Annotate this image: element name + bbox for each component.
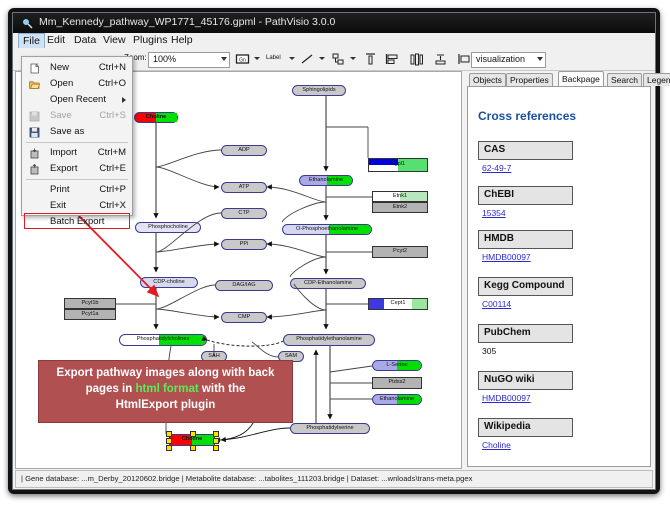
xref-value-nugo[interactable]: HMDB00097 bbox=[482, 393, 531, 403]
pathway-node-dag-iag[interactable]: DAG/IAG bbox=[215, 280, 273, 291]
backpage-content: Cross references CAS 62-49-7 ChEBI 15354… bbox=[467, 86, 651, 467]
interaction-tool-icon[interactable] bbox=[331, 52, 346, 66]
menu-edit[interactable]: Edit bbox=[43, 34, 69, 47]
side-panel: Objects Properties Backpage Search Legen… bbox=[463, 71, 653, 469]
menu-item-save[interactable]: Save Ctrl+S bbox=[22, 108, 132, 124]
save-as-icon bbox=[29, 127, 40, 138]
xref-value-chebi[interactable]: 15354 bbox=[482, 208, 506, 218]
export-icon bbox=[29, 164, 40, 175]
line-dropdown-icon[interactable] bbox=[319, 57, 325, 60]
align-top-icon[interactable] bbox=[363, 52, 378, 66]
menu-item-open-recent[interactable]: Open Recent bbox=[22, 92, 132, 108]
selection-handle[interactable] bbox=[190, 431, 196, 437]
annotation-line2-b: with the bbox=[199, 383, 246, 395]
pathway-node-ppi[interactable]: PPi bbox=[221, 239, 267, 250]
window-title: Mm_Kennedy_pathway_WP1771_45176.gpml - P… bbox=[39, 16, 335, 28]
annotation-line2-a: pages in bbox=[86, 383, 136, 395]
selection-handle[interactable] bbox=[166, 438, 172, 444]
pathway-gene-etnk1[interactable]: Etnk1 bbox=[372, 191, 428, 202]
import-icon bbox=[29, 148, 40, 159]
menu-item-exit[interactable]: Exit Ctrl+X bbox=[22, 198, 132, 214]
submenu-arrow-icon bbox=[122, 97, 126, 103]
pathway-node-phosphatidylcholines[interactable]: Phosphatidylcholines bbox=[119, 334, 207, 346]
interaction-dropdown-icon[interactable] bbox=[350, 57, 356, 60]
datanode-tool-icon[interactable]: Gn bbox=[235, 52, 250, 66]
window-frame: Mm_Kennedy_pathway_WP1771_45176.gpml - P… bbox=[8, 8, 660, 494]
pathway-node-phosphatidylethanolamine[interactable]: Phosphatidylethanolamine bbox=[283, 334, 375, 346]
pathway-node-l-serine[interactable]: L-Serine bbox=[372, 360, 422, 371]
datanode-dropdown-icon[interactable] bbox=[254, 57, 260, 60]
visualization-combo[interactable]: visualization bbox=[471, 52, 546, 68]
tab-legend[interactable]: Legend bbox=[643, 73, 670, 86]
menu-item-export[interactable]: Export Ctrl+E bbox=[22, 161, 132, 177]
visualization-value: visualization bbox=[476, 54, 525, 64]
xref-key-hmdb: HMDB bbox=[478, 230, 573, 249]
annotation-line3: HtmlExport plugin bbox=[39, 397, 292, 413]
xref-key-pubchem: PubChem bbox=[478, 324, 573, 343]
menu-help[interactable]: Help bbox=[167, 34, 197, 47]
pathway-node-choline[interactable]: Choline bbox=[134, 112, 178, 123]
pathway-node-phosphatidylserine[interactable]: Phosphatidylserine bbox=[290, 423, 370, 434]
side-panel-tabs: Objects Properties Backpage Search Legen… bbox=[463, 71, 653, 85]
menu-separator bbox=[26, 179, 128, 180]
xref-key-chebi: ChEBI bbox=[478, 186, 573, 205]
annotation-callout: Export pathway images along with back pa… bbox=[38, 360, 293, 423]
pathway-node-ctp[interactable]: CTP bbox=[221, 208, 267, 219]
pathway-node-ethanolamine-2[interactable]: Ethanolamine bbox=[372, 394, 422, 405]
menu-plugins[interactable]: Plugins bbox=[129, 34, 171, 47]
tab-search[interactable]: Search bbox=[607, 73, 642, 86]
menu-item-import[interactable]: Import Ctrl+M bbox=[22, 145, 132, 161]
pathway-gene-cept1[interactable]: Cept1 bbox=[368, 298, 428, 310]
cross-references-heading: Cross references bbox=[478, 109, 576, 123]
pathway-gene-pcyt2[interactable]: Pcyt2 bbox=[372, 246, 428, 258]
distribute-horizontal-icon[interactable] bbox=[433, 52, 448, 66]
pathway-node-ethanolamine[interactable]: Ethanolamine bbox=[299, 175, 353, 186]
menu-item-print[interactable]: Print Ctrl+P bbox=[22, 182, 132, 198]
pathway-node-sphingolipids[interactable]: Sphingolipids bbox=[292, 85, 346, 96]
selection-handle[interactable] bbox=[213, 438, 219, 444]
svg-text:Gn: Gn bbox=[239, 57, 246, 63]
window-inner: Mm_Kennedy_pathway_WP1771_45176.gpml - P… bbox=[12, 12, 656, 490]
menu-bar: File Edit Data View Plugins Help bbox=[13, 33, 655, 49]
annotation-line2-green: html format bbox=[135, 383, 198, 395]
xref-value-pubchem: 305 bbox=[482, 346, 496, 356]
pathway-node-cmp[interactable]: CMP bbox=[221, 312, 267, 323]
menu-item-new[interactable]: New Ctrl+N bbox=[22, 60, 132, 76]
pathway-node-cdp-choline[interactable]: CDP-choline bbox=[140, 277, 198, 288]
menu-item-open[interactable]: Open Ctrl+O bbox=[22, 76, 132, 92]
label-tool-label: Label bbox=[266, 55, 281, 61]
label-dropdown-icon[interactable] bbox=[289, 57, 295, 60]
align-left-icon[interactable] bbox=[385, 52, 400, 66]
menu-data[interactable]: Data bbox=[70, 34, 100, 47]
menu-item-save-as[interactable]: Save as bbox=[22, 124, 132, 140]
annotation-line2: pages in html format with the bbox=[39, 381, 292, 397]
xref-key-wikipedia: Wikipedia bbox=[478, 418, 573, 437]
selection-handle[interactable] bbox=[213, 445, 219, 451]
pathway-node-adp[interactable]: ADP bbox=[221, 145, 267, 156]
application-window: Mm_Kennedy_pathway_WP1771_45176.gpml - P… bbox=[0, 0, 670, 509]
tab-properties[interactable]: Properties bbox=[506, 73, 553, 86]
xref-value-cas[interactable]: 62-49-7 bbox=[482, 163, 511, 173]
file-menu-dropdown[interactable]: New Ctrl+N Open Ctrl+O Open Recent Save … bbox=[21, 56, 133, 216]
xref-key-nugo: NuGO wiki bbox=[478, 371, 573, 390]
pathway-gene-sgpl1[interactable]: Sgpl1 bbox=[368, 158, 428, 172]
pathway-gene-etnk2[interactable]: Etnk2 bbox=[372, 202, 428, 213]
pathway-node-cdp-ethanolamine[interactable]: CDP-Ethanolamine bbox=[290, 278, 366, 289]
tab-objects[interactable]: Objects bbox=[469, 73, 506, 86]
pathvisio-icon bbox=[22, 18, 33, 29]
tab-backpage[interactable]: Backpage bbox=[558, 71, 604, 86]
stack-center-icon[interactable] bbox=[409, 52, 424, 66]
pathway-gene-pcyt1a[interactable]: Pcyt1a bbox=[64, 309, 116, 320]
save-icon bbox=[29, 111, 40, 122]
same-width-icon[interactable] bbox=[457, 52, 472, 66]
pathway-node-phosphocholine[interactable]: Phosphocholine bbox=[135, 222, 201, 233]
pathway-node-o-phosphoethanolamine[interactable]: O-Phosphoethanolamine bbox=[282, 224, 372, 235]
zoom-value: 100% bbox=[153, 54, 176, 64]
status-bar: | Gene database: ...m_Derby_20120602.bri… bbox=[15, 470, 653, 488]
xref-value-wikipedia[interactable]: Choline bbox=[482, 440, 511, 450]
xref-key-kegg: Kegg Compound bbox=[478, 277, 573, 296]
batch-export-highlight bbox=[24, 213, 130, 229]
pathway-gene-ptdss2[interactable]: Ptdss2 bbox=[372, 377, 422, 389]
open-folder-icon bbox=[29, 79, 40, 90]
xref-key-cas: CAS bbox=[478, 141, 573, 160]
selection-handle[interactable] bbox=[166, 431, 172, 437]
pathway-node-atp[interactable]: ATP bbox=[221, 182, 267, 193]
selection-handle[interactable] bbox=[166, 445, 172, 451]
xref-value-hmdb[interactable]: HMDB00097 bbox=[482, 252, 531, 262]
new-file-icon bbox=[29, 63, 40, 74]
annotation-line1: Export pathway images along with back bbox=[39, 365, 292, 381]
chevron-down-icon bbox=[537, 57, 543, 61]
zoom-combo[interactable]: 100% bbox=[148, 52, 230, 68]
selection-handle[interactable] bbox=[213, 431, 219, 437]
line-tool-icon[interactable] bbox=[300, 52, 315, 66]
selection-handle[interactable] bbox=[190, 445, 196, 451]
pathway-gene-pcyt1b[interactable]: Pcyt1b bbox=[64, 298, 116, 309]
menu-file[interactable]: File bbox=[18, 33, 45, 49]
menu-separator bbox=[26, 142, 128, 143]
title-bar: Mm_Kennedy_pathway_WP1771_45176.gpml - P… bbox=[13, 13, 655, 34]
xref-value-kegg[interactable]: C00114 bbox=[482, 299, 511, 309]
menu-view[interactable]: View bbox=[99, 34, 130, 47]
status-text: | Gene database: ...m_Derby_20120602.bri… bbox=[21, 474, 472, 483]
chevron-down-icon bbox=[221, 57, 227, 61]
